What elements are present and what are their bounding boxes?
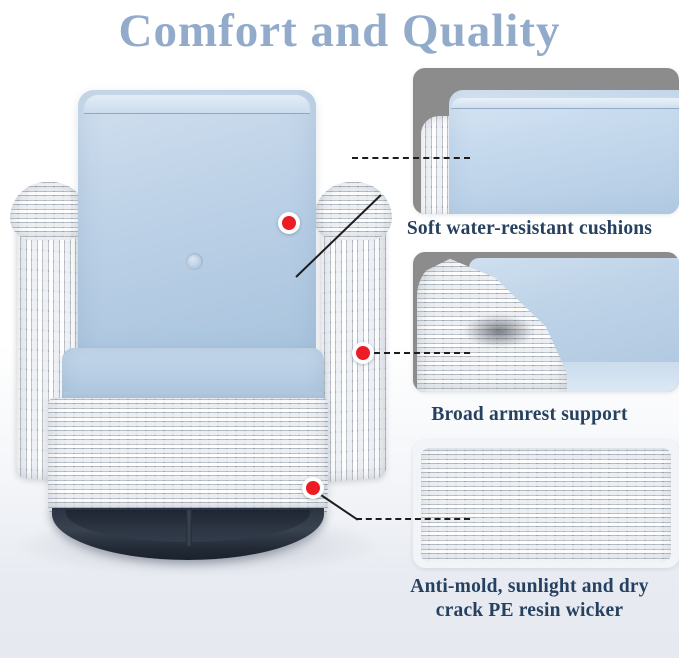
caption-cushion: Soft water-resistant cushions — [380, 217, 679, 241]
wicker-marker-icon[interactable] — [302, 477, 324, 499]
leader-line-armrest-dash — [374, 352, 470, 354]
chair-armrest-left — [10, 182, 88, 240]
back-cushion-piping — [84, 95, 310, 114]
caption-wicker: Anti-mold, sunlight and dry crack PE res… — [380, 575, 679, 623]
caption-armrest: Broad armrest support — [380, 403, 679, 427]
armrest-panel-shadow — [463, 314, 535, 348]
cushion-marker-icon[interactable] — [278, 212, 300, 234]
caption-wicker-line1: Anti-mold, sunlight and dry — [410, 576, 648, 597]
infographic-stage: Comfort and Quality Soft water-resistant… — [0, 0, 679, 658]
leader-line-cushion-dash — [352, 157, 470, 159]
detail-panel-cushion — [413, 68, 679, 214]
leader-line-wicker-dash — [356, 518, 470, 520]
detail-panel-wicker — [413, 440, 679, 568]
chair-wicker-base — [48, 398, 328, 520]
caption-wicker-line2: crack PE resin wicker — [380, 599, 679, 623]
product-image — [0, 60, 410, 580]
swivel-base-stem — [186, 510, 192, 546]
cushion-panel-seam — [451, 98, 679, 109]
tufted-button — [186, 253, 203, 270]
armrest-marker-icon[interactable] — [352, 342, 374, 364]
page-title: Comfort and Quality — [0, 2, 679, 60]
detail-panel-armrest — [413, 252, 679, 392]
wicker-panel-weave — [421, 448, 671, 562]
